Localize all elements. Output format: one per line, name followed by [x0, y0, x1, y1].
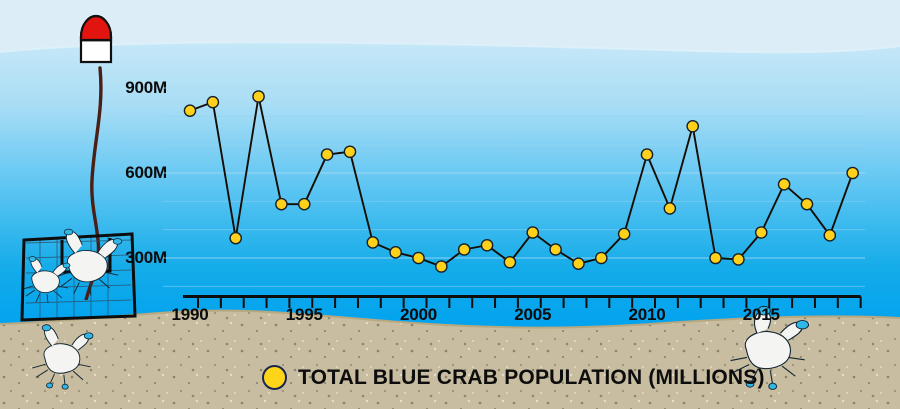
data-point-2007[interactable]: [573, 258, 584, 269]
data-point-2001[interactable]: [436, 261, 447, 272]
x-axis-labels: 199019952000200520102015: [0, 305, 900, 329]
data-point-2016[interactable]: [779, 179, 790, 190]
data-point-1996[interactable]: [322, 149, 333, 160]
data-point-2019[interactable]: [847, 167, 858, 178]
x-tick-label-1990: 1990: [171, 305, 208, 325]
legend-marker-icon: [262, 365, 287, 390]
data-point-1994[interactable]: [276, 199, 287, 210]
data-point-2012[interactable]: [687, 121, 698, 132]
y-tick-600: 600M: [125, 163, 167, 183]
legend-label: TOTAL BLUE CRAB POPULATION (MILLIONS): [298, 366, 765, 390]
y-tick-300: 300M: [125, 248, 167, 268]
data-point-2008[interactable]: [596, 252, 607, 263]
data-point-1991[interactable]: [207, 97, 218, 108]
data-point-2003[interactable]: [481, 240, 492, 251]
data-point-2000[interactable]: [413, 252, 424, 263]
data-point-2018[interactable]: [824, 230, 835, 241]
data-point-1990[interactable]: [184, 105, 195, 116]
data-point-2004[interactable]: [504, 257, 515, 268]
crab-on-sand-left: [32, 325, 93, 389]
y-axis-labels: 900M 600M 300M: [0, 0, 175, 300]
data-point-1992[interactable]: [230, 233, 241, 244]
y-tick-900: 900M: [125, 78, 167, 98]
data-point-1999[interactable]: [390, 247, 401, 258]
x-tick-label-2000: 2000: [400, 305, 437, 325]
data-point-2014[interactable]: [733, 254, 744, 265]
infographic-canvas: 900M 600M 300M 199019952000200520102015 …: [0, 0, 900, 409]
data-point-2011[interactable]: [664, 203, 675, 214]
data-point-2013[interactable]: [710, 252, 721, 263]
data-point-2015[interactable]: [756, 227, 767, 238]
data-point-2010[interactable]: [641, 149, 652, 160]
data-point-1993[interactable]: [253, 91, 264, 102]
x-tick-label-2010: 2010: [628, 305, 665, 325]
data-point-2005[interactable]: [527, 227, 538, 238]
data-point-2002[interactable]: [459, 244, 470, 255]
data-point-2017[interactable]: [801, 199, 812, 210]
series-line: [190, 97, 853, 267]
legend: TOTAL BLUE CRAB POPULATION (MILLIONS): [262, 365, 765, 390]
data-point-1997[interactable]: [344, 146, 355, 157]
data-point-1995[interactable]: [299, 199, 310, 210]
chart-plot-area: [175, 85, 865, 295]
data-point-1998[interactable]: [367, 237, 378, 248]
data-point-2006[interactable]: [550, 244, 561, 255]
x-tick-label-2005: 2005: [514, 305, 551, 325]
data-point-2009[interactable]: [619, 228, 630, 239]
x-tick-label-1995: 1995: [286, 305, 323, 325]
x-tick-label-2015: 2015: [743, 305, 780, 325]
